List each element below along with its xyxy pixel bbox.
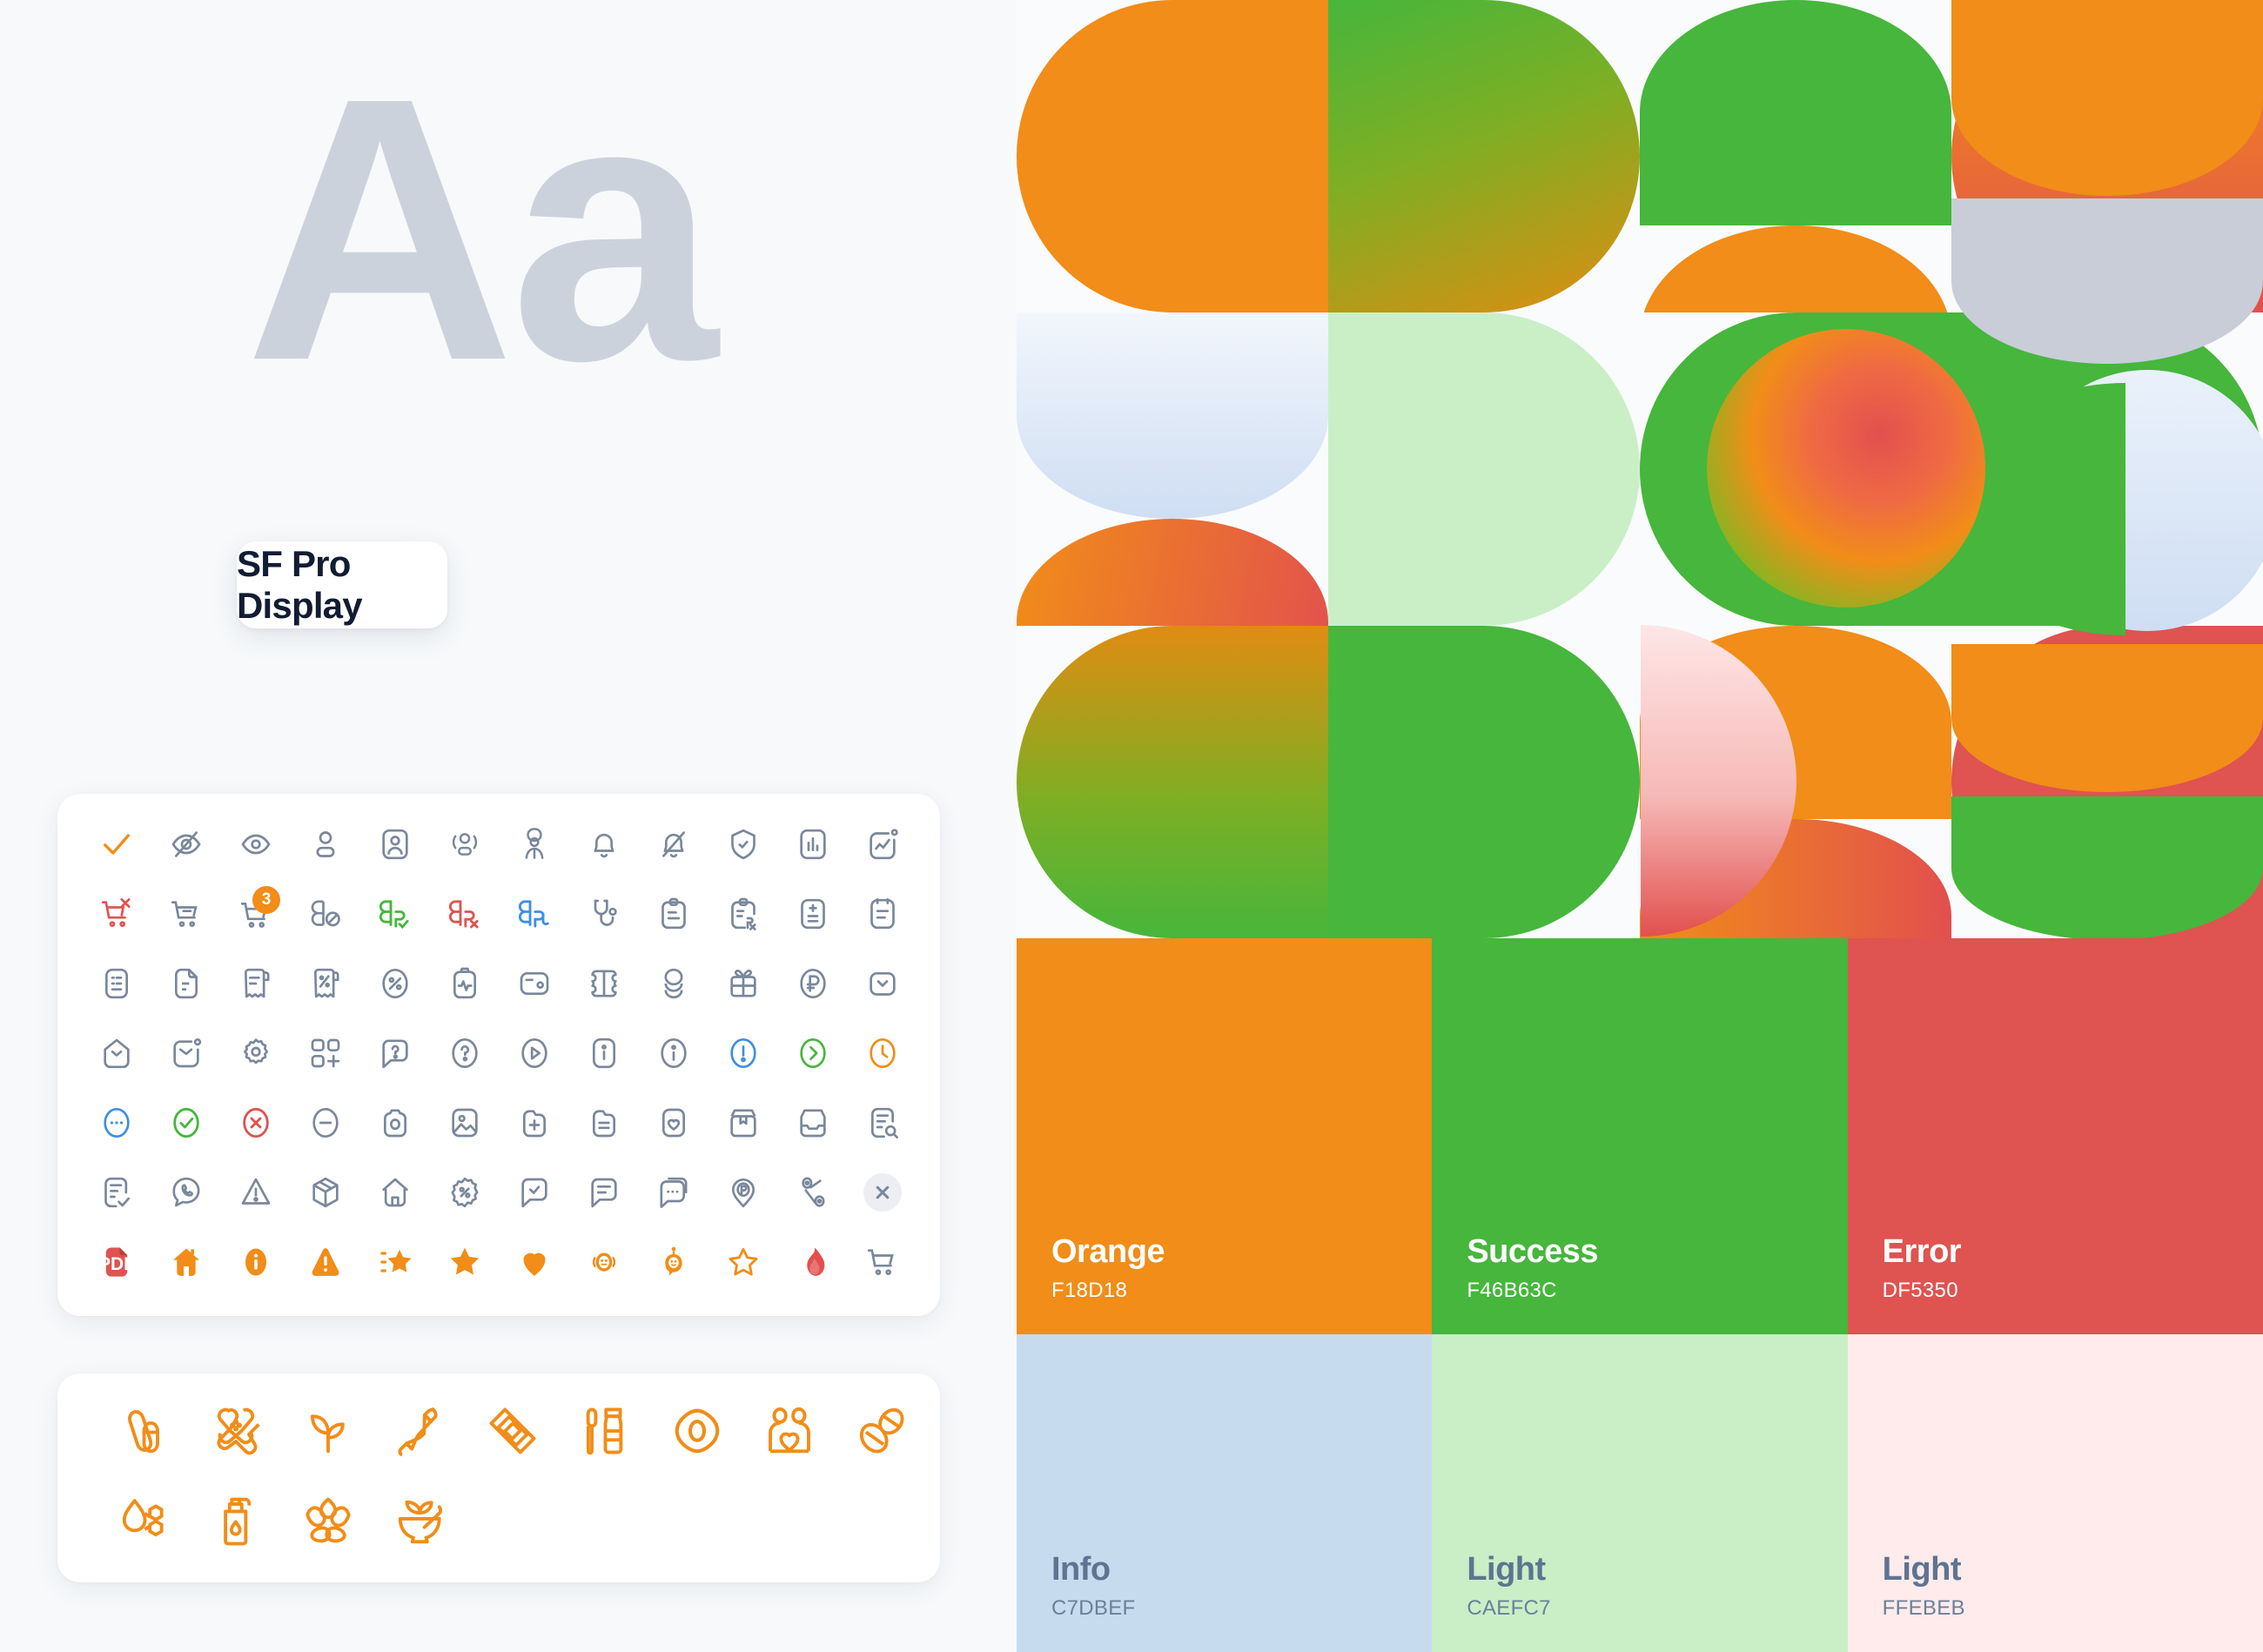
pharmacy-icon-row [57,1386,940,1476]
chart-line-icon[interactable] [848,809,917,879]
chat-dots-icon[interactable] [639,1158,708,1227]
play-circle-icon[interactable] [500,1018,569,1088]
icon-row: PDF [57,1227,940,1297]
swatch-hex: F18D18 [1051,1279,1165,1303]
chat-question-icon[interactable] [360,1018,430,1088]
pattern-tile [1951,0,2263,312]
image-icon[interactable] [430,1088,500,1158]
gradient-circle-shape [1707,329,1985,608]
bell-icon[interactable] [569,809,639,879]
minus-circle-icon[interactable] [291,1088,360,1158]
icon-library-card: 3 [57,794,940,1316]
chevron-right-circle-icon[interactable] [778,1018,848,1088]
phone-bubble-icon[interactable] [151,1158,221,1227]
swatch-hex: F46B63C [1467,1279,1598,1303]
pattern-tile [1017,626,1328,938]
document-check-icon[interactable] [82,1158,151,1227]
swatch-name: Success [1467,1233,1598,1272]
color-palette-grid: Orange F18D18 Success F46B63C Error DF53… [1017,938,2263,1652]
percent-circle-icon[interactable] [360,949,430,1018]
pill-blocked-icon[interactable] [291,879,360,949]
pharmacy-icon-card [57,1373,940,1582]
bandage-icon[interactable] [190,1386,282,1476]
warning-filled-icon[interactable] [291,1227,360,1297]
half-circle-gradient-shape [1017,626,1328,938]
icon-row [57,1018,940,1088]
envelope-badge-icon[interactable] [151,1018,221,1088]
x-circle-icon[interactable] [221,1088,291,1158]
clipboard-plus-minus-icon[interactable] [778,879,848,949]
info-box-icon[interactable] [569,1018,639,1088]
question-circle-icon[interactable] [430,1018,500,1088]
clipboard-pulse-icon[interactable] [430,949,500,1018]
star-outline-icon[interactable] [708,1227,778,1297]
pump-bottle-icon[interactable] [190,1476,282,1567]
home-icon[interactable] [360,1158,430,1227]
clock-circle-icon[interactable] [848,1018,917,1088]
chart-bar-icon[interactable] [778,809,848,879]
half-circle-shape [1951,312,2263,625]
wallet-icon[interactable] [500,949,569,1018]
color-swatch-orange[interactable]: Orange F18D18 [1017,938,1432,1334]
cart-minus-icon[interactable] [151,879,221,949]
user-icon[interactable] [291,809,360,879]
fire-icon[interactable] [778,1227,848,1297]
half-circle-shape [1951,626,2263,938]
prescription-check-icon[interactable] [360,879,430,949]
ticket-icon[interactable] [569,949,639,1018]
users-group-icon[interactable] [430,809,500,879]
chat-lines-icon[interactable] [569,1158,639,1227]
warning-triangle-icon[interactable] [221,1158,291,1227]
bot-face-icon[interactable] [569,1227,639,1297]
bell-off-icon[interactable] [639,809,708,879]
swatch-hex: DF5350 [1883,1279,1961,1303]
receipt-percent-icon[interactable] [291,949,360,1018]
prescription-x-icon[interactable] [430,879,500,949]
color-swatch-info[interactable]: Info C7DBEF [1017,1334,1432,1652]
semicircle-shape [1640,0,1951,225]
aa-glyph: Aa [0,52,957,408]
pattern-tile [1328,626,1640,938]
flower-icon[interactable] [282,1476,374,1567]
pattern-tile [1951,626,2263,938]
check-icon[interactable] [82,809,151,879]
color-swatch-error[interactable]: Error DF5350 [1848,938,2263,1334]
pattern-tile [1017,0,1328,312]
eye-off-icon[interactable] [151,809,221,879]
file-icon[interactable] [151,949,221,1018]
eye-care-icon[interactable] [651,1386,743,1476]
cart-badge-icon[interactable]: 3 [221,879,291,949]
receipt-icon[interactable] [221,949,291,1018]
clipboard-list-icon[interactable] [848,879,917,949]
sprout-icon[interactable] [282,1386,374,1476]
eye-icon[interactable] [221,809,291,879]
font-name-label: SF Pro Display [237,543,447,627]
half-circle-shape [1328,312,1640,625]
heart-filled-icon[interactable] [500,1227,569,1297]
drop-molecule-icon[interactable] [97,1476,190,1567]
alert-circle-icon[interactable] [708,1018,778,1088]
chevron-down-box-icon[interactable] [848,949,917,1018]
icon-row [57,949,940,1018]
box-3d-icon[interactable] [291,1158,360,1227]
clipboard-rx-icon[interactable] [708,879,778,949]
folder-list-icon[interactable] [569,1088,639,1158]
swatch-name: Info [1051,1551,1136,1589]
folder-plus-icon[interactable] [500,1088,569,1158]
pattern-tile [1328,0,1640,312]
star-list-icon[interactable] [360,1227,430,1297]
swatch-name: Orange [1051,1233,1165,1272]
prescription-refill-icon[interactable] [500,879,569,949]
gear-icon[interactable] [221,1018,291,1088]
user-card-icon[interactable] [360,809,430,879]
swatch-name: Light [1883,1551,1965,1589]
icon-row [57,809,940,879]
half-circle-shape [1328,626,1640,938]
swatch-hex: CAEFC7 [1467,1596,1551,1621]
info-circle-icon[interactable] [639,1018,708,1088]
pattern-tile [1640,0,1951,312]
chat-check-icon[interactable] [500,1158,569,1227]
half-circle-gradient-shape [1328,0,1640,312]
envelope-icon[interactable] [82,1018,151,1088]
pills-icon[interactable] [836,1386,928,1476]
typography-specimen: Aa [0,52,957,408]
semicircle-shape [1640,225,1951,313]
cart-outline-icon[interactable] [848,1227,917,1297]
geometric-pattern-grid [1017,0,2263,938]
swatch-hex: C7DBEF [1051,1596,1136,1621]
left-panel: Aa SF Pro Display [0,0,1017,1652]
capsules-icon[interactable] [97,1386,190,1476]
icon-row [57,1088,940,1158]
pattern-tile [1328,312,1640,625]
coins-icon[interactable] [639,949,708,1018]
dots-circle-icon[interactable] [82,1088,151,1158]
camera-icon[interactable] [360,1088,430,1158]
icon-row: 3 [57,879,940,949]
inbox-icon[interactable] [778,1088,848,1158]
folder-heart-icon[interactable] [639,1088,708,1158]
svg-text:PDF: PDF [98,1254,135,1274]
route-icon[interactable] [778,1158,848,1227]
discount-badge-icon[interactable] [430,1158,500,1227]
check-circle-icon[interactable] [151,1088,221,1158]
gift-icon[interactable] [708,949,778,1018]
half-circle-shape [1017,0,1328,312]
mortar-pestle-icon[interactable] [374,1476,467,1567]
squeeze-bottle-icon[interactable] [374,1386,467,1476]
color-swatch-success[interactable]: Success F46B63C [1432,938,1847,1334]
shield-check-icon[interactable] [708,809,778,879]
map-pin-parking-icon[interactable] [708,1158,778,1227]
close-x-icon[interactable] [848,1158,917,1227]
star-filled-icon[interactable] [430,1227,500,1297]
document-list-icon[interactable] [82,949,151,1018]
stethoscope-icon[interactable] [569,879,639,949]
pdf-file-icon[interactable]: PDF [82,1227,151,1297]
ruble-circle-icon[interactable] [778,949,848,1018]
family-heart-icon[interactable] [743,1386,836,1476]
swatch-hex: FFEBEB [1883,1596,1965,1621]
right-panel: Orange F18D18 Success F46B63C Error DF53… [1017,0,2263,1652]
clipboard-icon[interactable] [639,879,708,949]
info-filled-icon[interactable] [221,1227,291,1297]
font-name-chip[interactable]: SF Pro Display [237,541,447,628]
document-search-icon[interactable] [848,1088,917,1158]
color-swatch-light-green[interactable]: Light CAEFC7 [1432,1334,1847,1652]
toothbrush-paste-icon[interactable] [559,1386,651,1476]
pattern-tile [1017,312,1328,625]
color-swatch-light-red[interactable]: Light FFEBEB [1848,1334,2263,1652]
half-circle-gradient-shape [1951,0,2263,312]
grid-plus-icon[interactable] [291,1018,360,1088]
robot-icon[interactable] [639,1227,708,1297]
user-avatar-icon[interactable] [500,809,569,879]
semicircle-shape [1017,519,1328,625]
design-system-board: Aa SF Pro Display [0,0,2263,1652]
swatch-name: Error [1883,1233,1961,1272]
archive-icon[interactable] [708,1088,778,1158]
sachet-icon[interactable] [467,1386,559,1476]
swatch-name: Light [1467,1551,1551,1589]
pattern-tile [1951,312,2263,625]
icon-row [57,1158,940,1227]
home-filled-icon[interactable] [151,1227,221,1297]
pharmacy-icon-row [57,1476,940,1567]
cart-badge-count: 3 [252,886,280,914]
cart-remove-icon[interactable] [82,879,151,949]
semicircle-shape [1017,312,1328,519]
